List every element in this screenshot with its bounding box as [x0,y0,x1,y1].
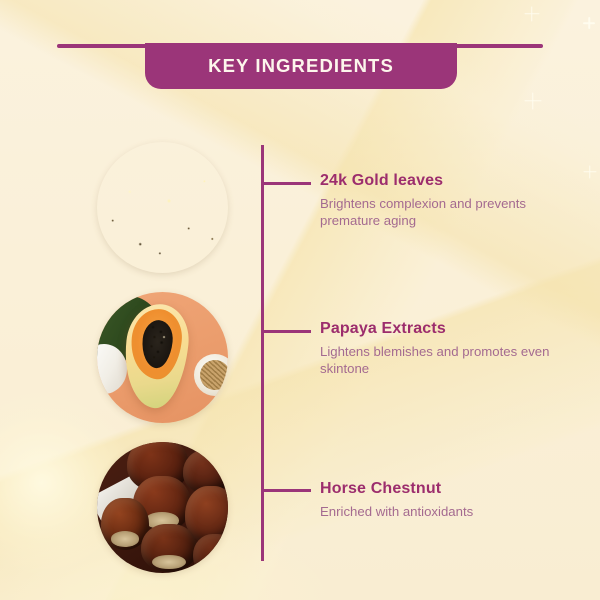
ingredient-text: 24k Gold leaves Brightens complexion and… [320,172,570,229]
gold-flake-specks [97,142,228,273]
chestnut-shape [141,524,197,572]
timeline-stem [261,145,264,561]
timeline-tick [261,489,311,492]
sparkle-icon [583,17,595,29]
ingredient-title: Papaya Extracts [320,320,570,338]
ingredient-description: Brightens complexion and prevents premat… [320,195,570,229]
ingredient-text: Papaya Extracts Lightens blemishes and p… [320,320,570,377]
ingredient-title: 24k Gold leaves [320,172,570,190]
chestnut-hilum [202,561,228,573]
sparkle-icon [524,6,539,21]
ingredient-description: Lightens blemishes and promotes even ski… [320,343,570,377]
papaya-flesh [128,307,185,382]
gold-flakes-texture [97,142,228,273]
sparkle-icon [524,92,541,109]
sparkle-icon [583,165,596,178]
page-title: KEY INGREDIENTS [208,55,394,77]
timeline-tick [261,182,311,185]
papaya-seed-cavity [140,319,175,370]
ingredient-title: Horse Chestnut [320,480,570,498]
ingredient-description: Enriched with antioxidants [320,503,570,520]
papaya-photo [97,292,228,423]
chestnut-hilum [111,531,140,547]
timeline-tick [261,330,311,333]
header-banner: KEY INGREDIENTS [145,43,457,89]
papaya-scene [97,292,228,423]
chestnut-shape [193,534,228,573]
ingredient-text: Horse Chestnut Enriched with antioxidant… [320,480,570,520]
gold-leaves-photo [97,142,228,273]
papaya-seeds [140,319,175,370]
horse-chestnut-photo [97,442,228,573]
chestnut-scene [97,442,228,573]
chestnut-hilum [152,555,186,569]
seed-bowl-shape [194,354,228,396]
